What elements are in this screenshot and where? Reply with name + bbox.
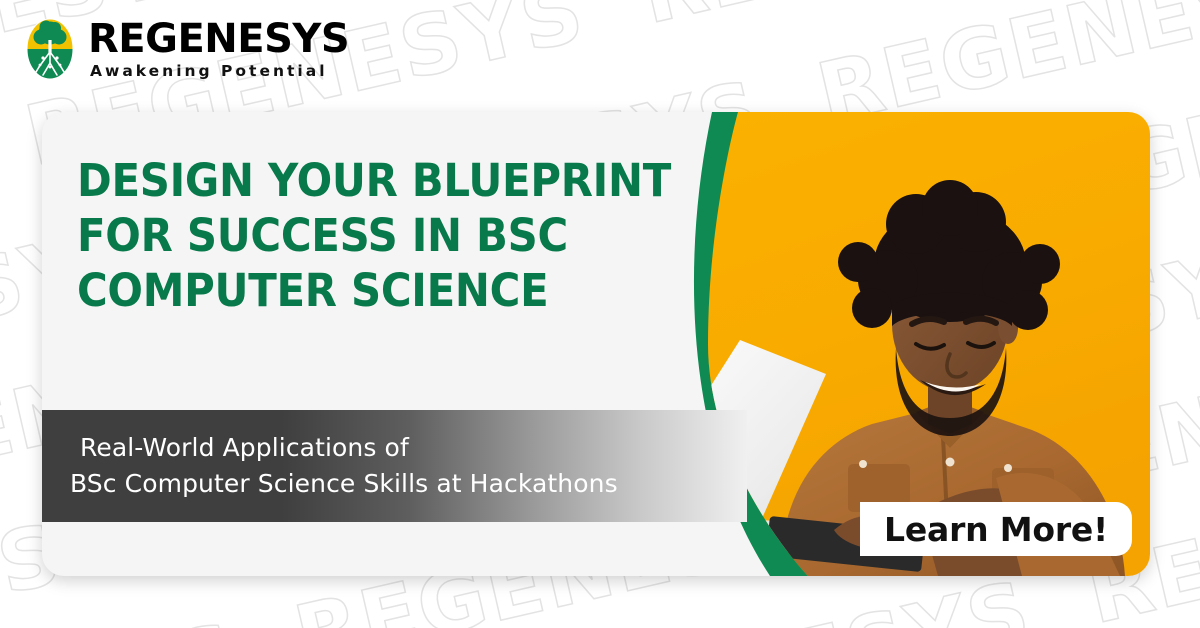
watermark-word: REGENESYS	[632, 0, 1200, 43]
headline: DESIGN YOUR BLUEPRINT FOR SUCCESS IN BSC…	[77, 154, 687, 319]
learn-more-label: Learn More!	[884, 510, 1108, 549]
brand-name: REGENESYS	[88, 19, 349, 59]
subtitle-line-1: Real-World Applications of	[70, 430, 747, 466]
headline-line-1: DESIGN YOUR BLUEPRINT	[77, 154, 644, 209]
marketing-banner: REGENESYS REGENESYS REGENESYS REGENESYS …	[0, 0, 1200, 628]
learn-more-button[interactable]: Learn More!	[860, 502, 1132, 556]
brand-logo[interactable]: REGENESYS Awakening Potential	[22, 16, 349, 82]
headline-line-3: COMPUTER SCIENCE	[77, 264, 644, 319]
watermark-row: REGENESYS REGENESYS REGENESYS	[0, 570, 1200, 628]
tree-with-roots-oval-icon	[22, 16, 78, 82]
subtitle-line-2: BSc Computer Science Skills at Hackathon…	[70, 466, 747, 502]
watermark-word: REGENESYS	[817, 621, 1200, 628]
promo-card: DESIGN YOUR BLUEPRINT FOR SUCCESS IN BSC…	[42, 112, 1150, 576]
headline-line-2: FOR SUCCESS IN BSC	[77, 209, 644, 264]
subtitle-bar: Real-World Applications of BSc Computer …	[42, 410, 747, 522]
brand-tagline: Awakening Potential	[90, 64, 349, 80]
watermark-word: REGENESYS	[0, 605, 248, 628]
brand-logo-text: REGENESYS Awakening Potential	[88, 19, 349, 80]
